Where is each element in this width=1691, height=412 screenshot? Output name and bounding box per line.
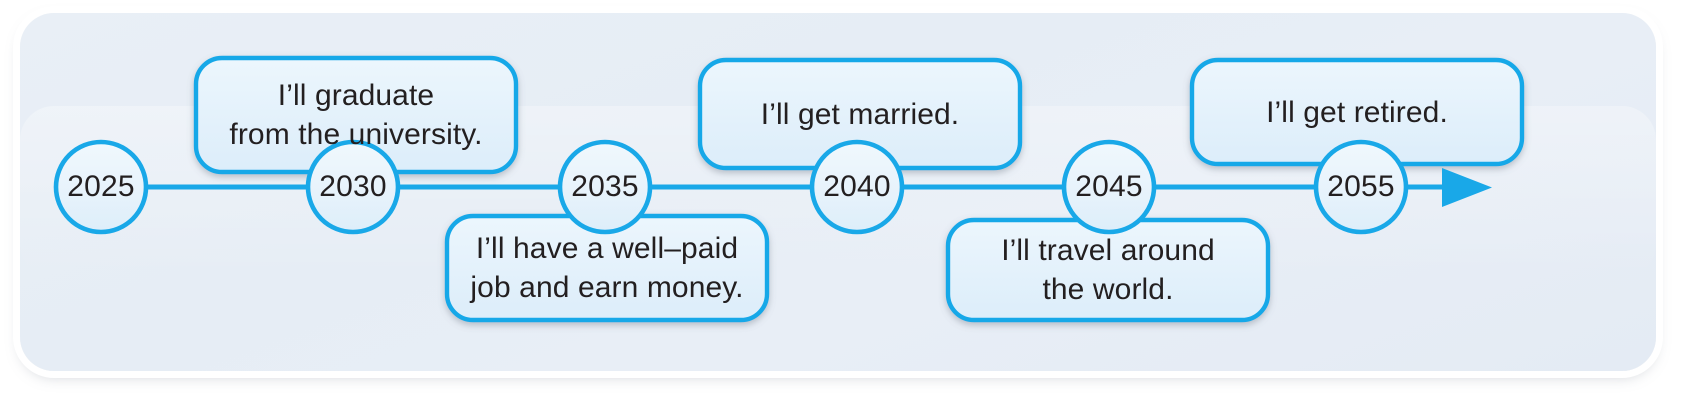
year-node-2025[interactable]	[56, 142, 146, 232]
arrow-right-icon	[1442, 168, 1492, 207]
year-node-2055[interactable]	[1316, 142, 1406, 232]
timeline-diagram: 2025 2030 2035 2040 2045 2055 I’ll gradu…	[0, 0, 1691, 412]
year-node-2030[interactable]	[308, 142, 398, 232]
year-node-2040[interactable]	[812, 142, 902, 232]
timeline-graphics	[0, 0, 1691, 412]
event-bubble-2045	[948, 220, 1268, 320]
year-node-2045[interactable]	[1064, 142, 1154, 232]
year-node-2035[interactable]	[560, 142, 650, 232]
